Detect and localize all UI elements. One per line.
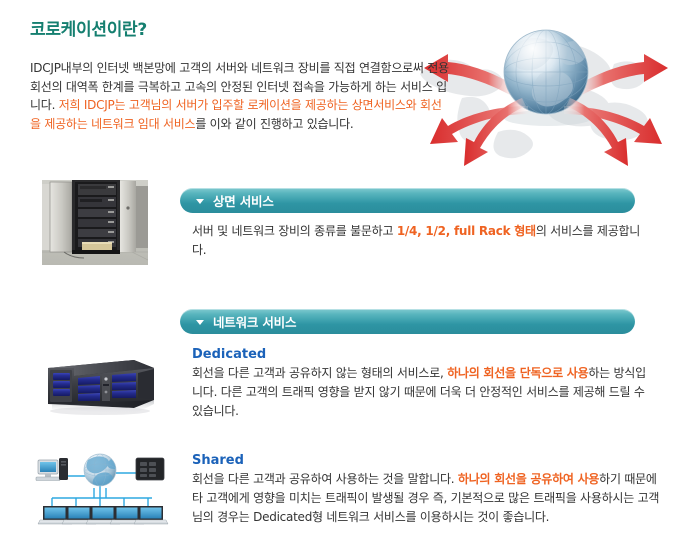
rack-server-image [38, 354, 160, 420]
chevron-down-icon [196, 199, 204, 204]
shared-text-plain-1: 회선을 다른 고객과 공유하여 사용하는 것을 말합니다. [192, 472, 458, 486]
sangmyun-text-highlight: 1/4, 1/2, full Rack 형태 [397, 224, 536, 238]
dedicated-text-highlight: 하나의 회선을 단독으로 사용 [447, 366, 588, 380]
dedicated-heading: Dedicated [192, 347, 266, 362]
shared-description: 회선을 다른 고객과 공유하여 사용하는 것을 말합니다. 하나의 회선을 공유… [192, 470, 662, 527]
intro-text-plain-2: 를 이와 같이 진행하고 있습니다. [195, 117, 353, 131]
sangmyun-description: 서버 및 네트워크 장비의 종류를 불문하고 1/4, 1/2, full Ra… [192, 222, 642, 260]
desktop-computer-icon [36, 458, 68, 481]
section-header-sangmyun[interactable]: 상면 서비스 [180, 188, 635, 213]
server-rack-photo [42, 180, 148, 265]
section-header-network[interactable]: 네트워크 서비스 [180, 309, 635, 334]
shared-text-highlight: 하나의 회선을 공유하여 사용 [458, 472, 599, 486]
page-title: 코로케이션이란? [30, 15, 147, 40]
sangmyun-text-plain-1: 서버 및 네트워크 장비의 종류를 불문하고 [192, 224, 397, 238]
chevron-down-icon [196, 320, 204, 325]
server-rack-icon [136, 458, 164, 480]
dedicated-text-plain-1: 회선을 다른 고객과 공유하지 않는 형태의 서비스로, [192, 366, 447, 380]
section-header-label: 네트워크 서비스 [213, 312, 296, 331]
shared-heading: Shared [192, 453, 244, 468]
laptop-row [38, 506, 168, 524]
dedicated-description: 회선을 다른 고객과 공유하지 않는 형태의 서비스로, 하나의 회선을 단독으… [192, 364, 652, 421]
intro-paragraph: IDCJP내부의 인터넷 백본망에 고객의 서버와 네트워크 장비를 직접 연결… [30, 59, 450, 133]
network-diagram-image [30, 448, 170, 532]
colocation-page: 코로케이션이란? IDCJP내부의 인터넷 백본망에 고객의 서버와 네트워크 … [0, 0, 680, 560]
section-header-label: 상면 서비스 [213, 191, 274, 210]
